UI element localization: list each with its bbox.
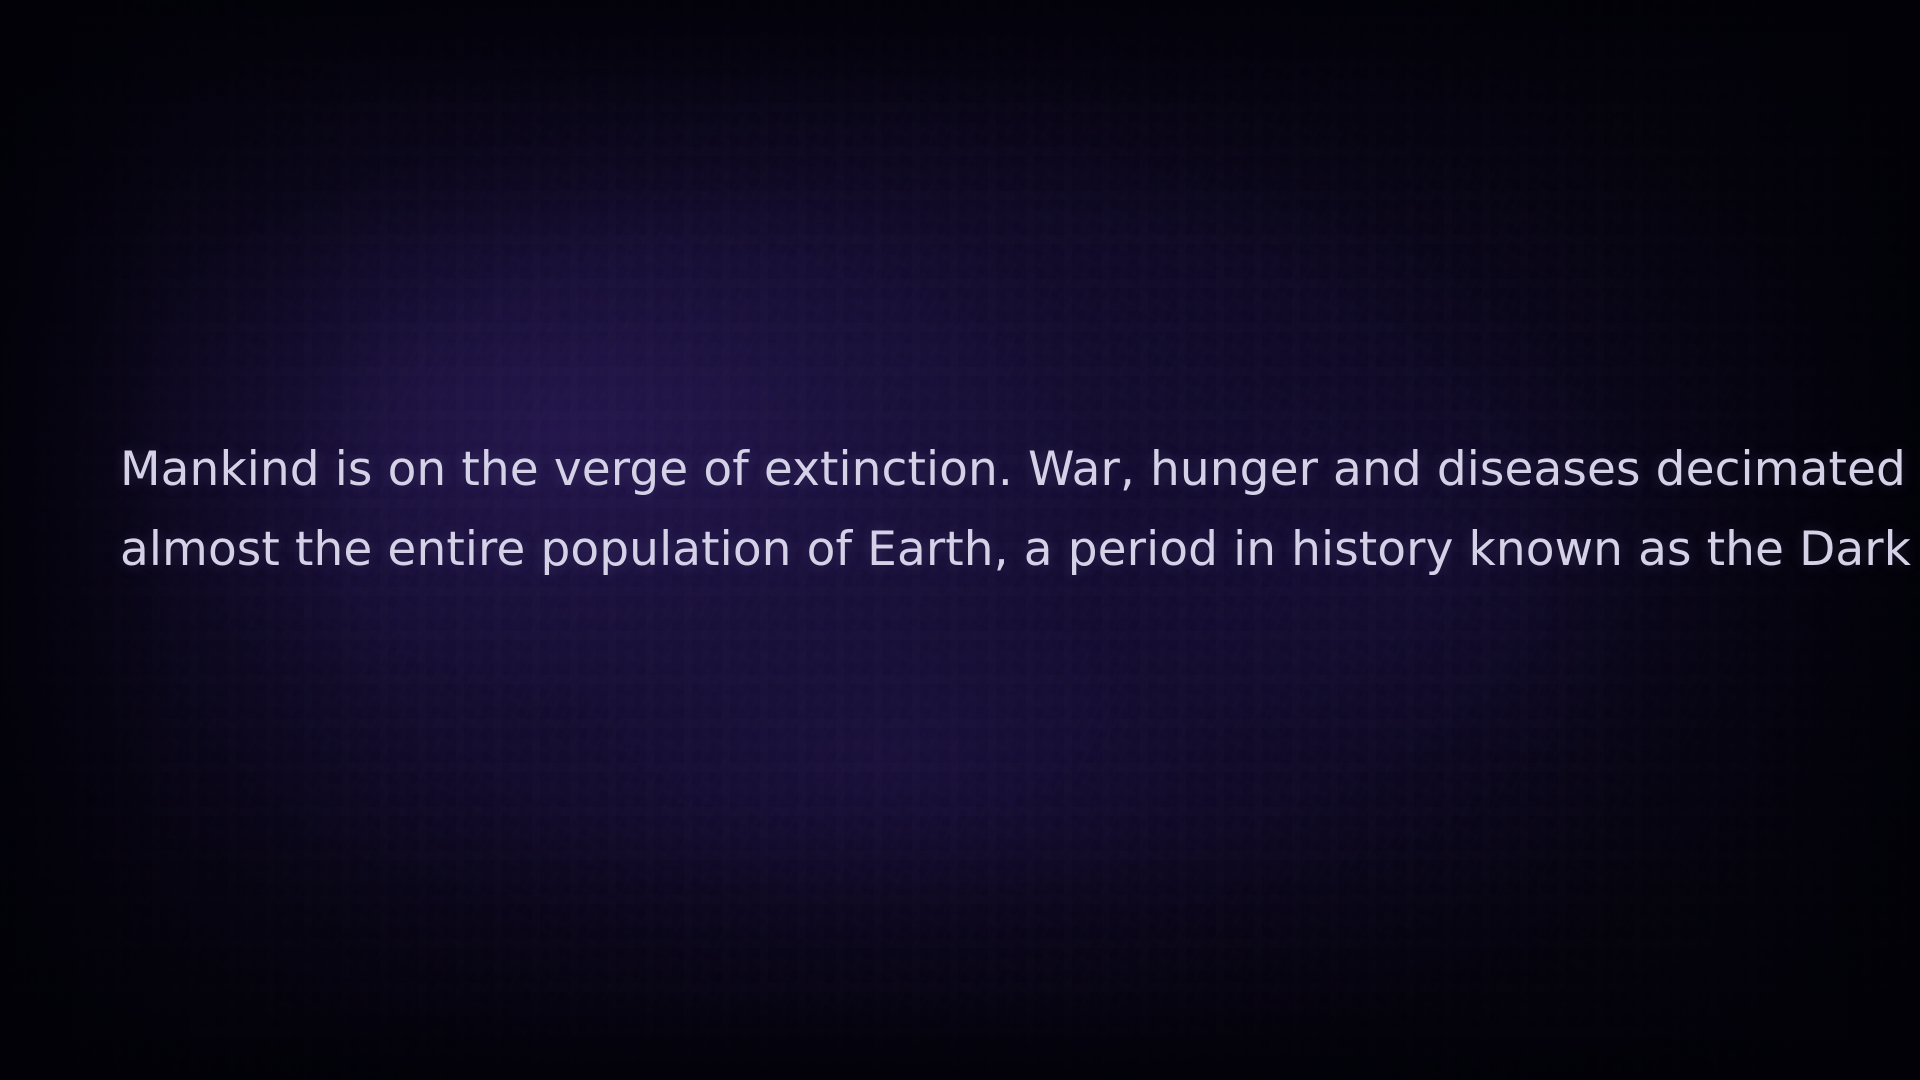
narration-line-2: almost the entire population of Earth, a… (120, 510, 1800, 590)
narration-text-block: Mankind is on the verge of extinction. W… (0, 430, 1920, 590)
cutscene-screen: Mankind is on the verge of extinction. W… (0, 0, 1920, 1080)
narration-line-1: Mankind is on the verge of extinction. W… (120, 430, 1800, 510)
